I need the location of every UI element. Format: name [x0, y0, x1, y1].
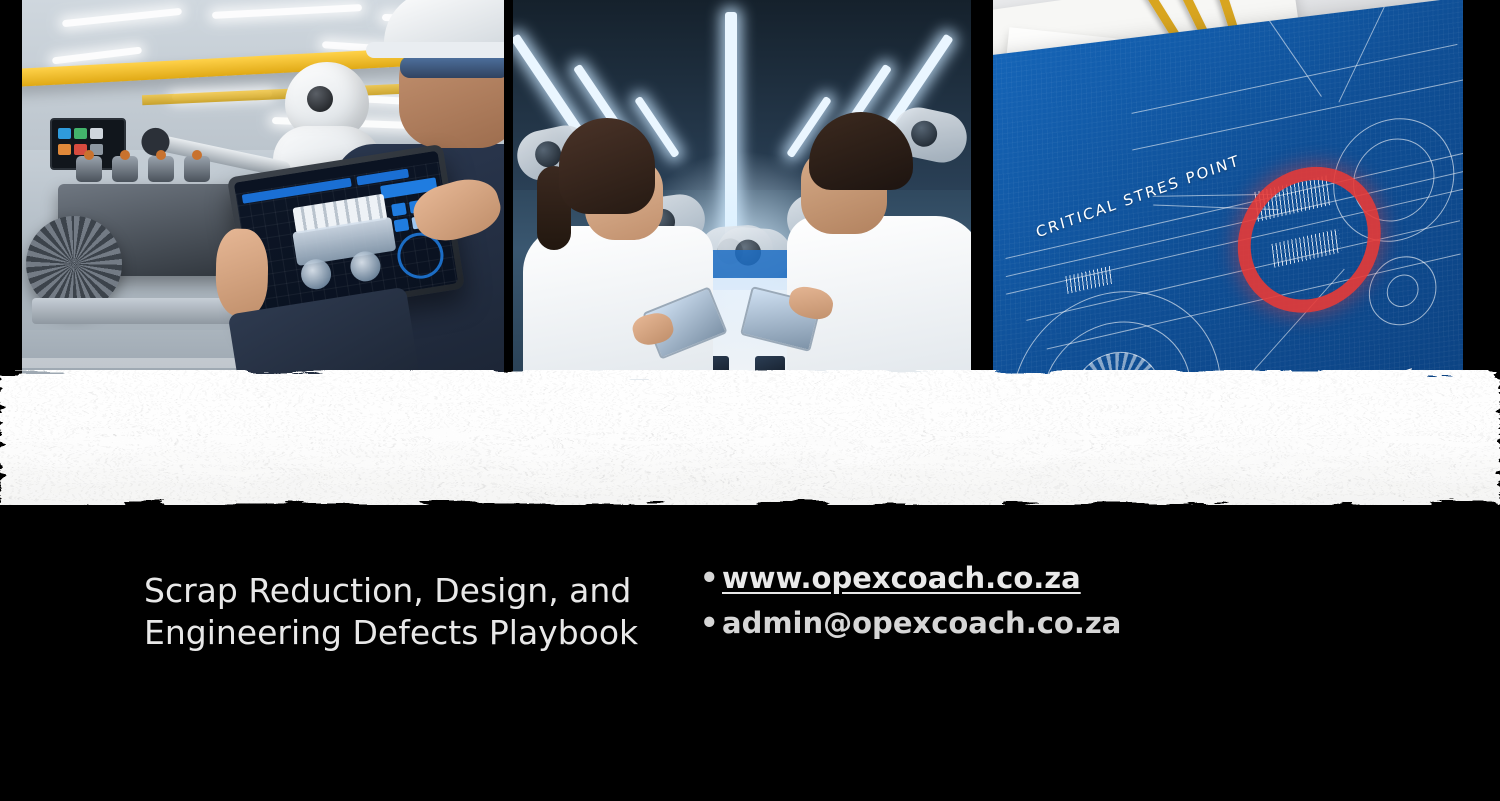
contact-list: • www.opexcoach.co.za • admin@opexcoach.…	[700, 556, 1121, 646]
torn-paper-edge	[0, 362, 1500, 512]
website-link[interactable]: www.opexcoach.co.za	[722, 556, 1081, 601]
critical-stress-highlight	[1237, 159, 1382, 321]
bullet-icon: •	[700, 556, 722, 601]
list-item-website[interactable]: • www.opexcoach.co.za	[700, 556, 1121, 601]
list-item-email[interactable]: • admin@opexcoach.co.za	[700, 601, 1121, 646]
page-title: Scrap Reduction, Design, and Engineering…	[144, 570, 664, 654]
bullet-icon: •	[700, 601, 722, 646]
email-address[interactable]: admin@opexcoach.co.za	[722, 601, 1121, 646]
slide-canvas: TAI Predict. Pr	[0, 0, 1500, 801]
